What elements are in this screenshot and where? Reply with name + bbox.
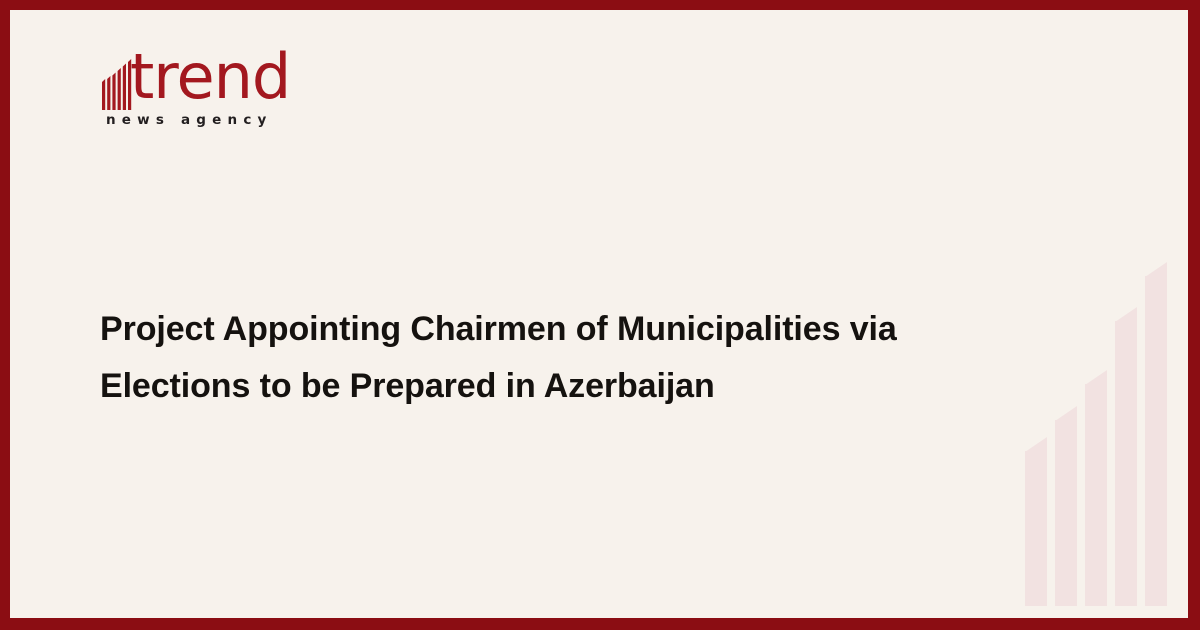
- card-canvas: trend news agency Project Appointing Cha…: [10, 10, 1188, 618]
- trend-logo[interactable]: trend news agency: [102, 52, 342, 140]
- news-share-card: trend news agency Project Appointing Cha…: [0, 0, 1200, 630]
- decoration-bar: [1145, 276, 1167, 606]
- logo-tagline: news agency: [106, 112, 273, 128]
- ascending-bars-decoration: [1025, 170, 1180, 606]
- headline: Project Appointing Chairmen of Municipal…: [100, 301, 1000, 415]
- decoration-bar: [1115, 321, 1137, 606]
- decoration-bar: [1055, 420, 1077, 606]
- decoration-bar: [1085, 384, 1107, 606]
- logo-wordmark: trend: [130, 46, 290, 108]
- decoration-bar: [1025, 451, 1047, 606]
